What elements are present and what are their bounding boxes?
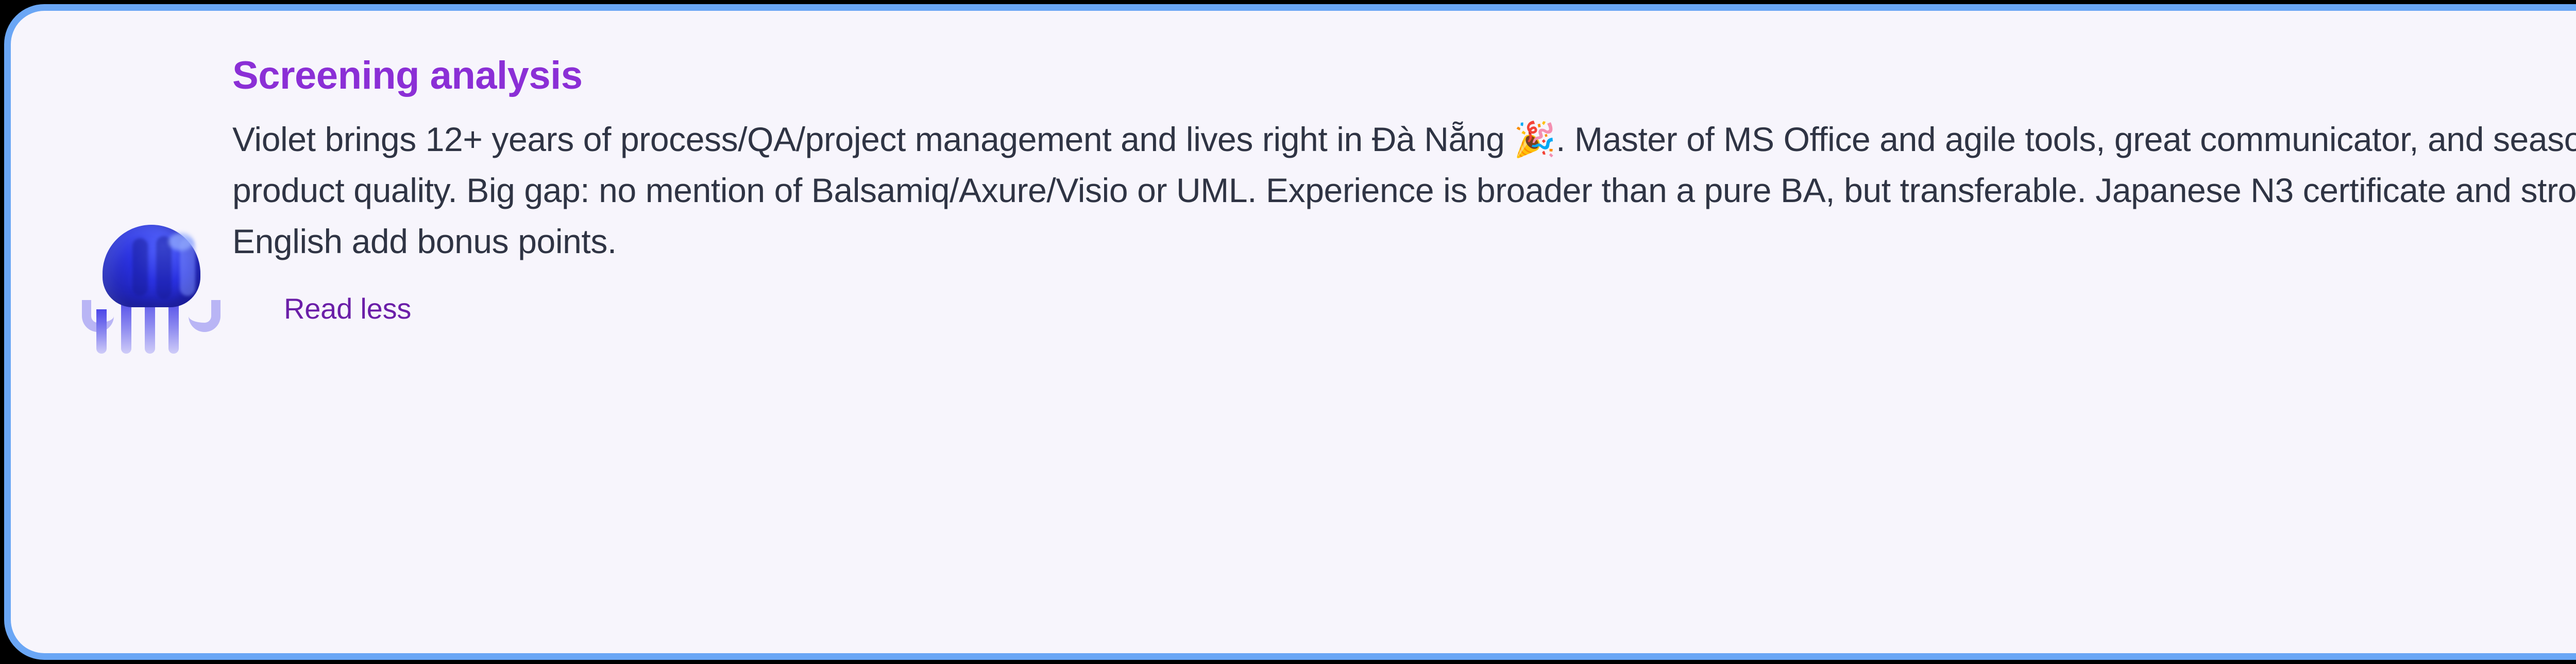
read-less-button[interactable]: Read less (284, 292, 411, 325)
screening-analysis-card: Screening analysis Violet brings 12+ yea… (4, 4, 2576, 660)
bell-highlight (168, 233, 193, 251)
bell-rib-1 (132, 238, 148, 296)
avatar-column (11, 11, 232, 653)
analysis-body-text: Violet brings 12+ years of process/QA/pr… (232, 114, 2576, 267)
jellyfish-icon-shape (88, 225, 214, 354)
jellyfish-bell (103, 225, 200, 307)
screen-root: Screening analysis Violet brings 12+ yea… (0, 0, 2576, 664)
tentacle-arc-right (189, 300, 221, 332)
tentacle-1 (96, 309, 107, 354)
card-content-column: Screening analysis Violet brings 12+ yea… (232, 11, 2576, 325)
page-title: Screening analysis (232, 56, 2576, 95)
read-toggle-container: Read less (232, 292, 2576, 325)
